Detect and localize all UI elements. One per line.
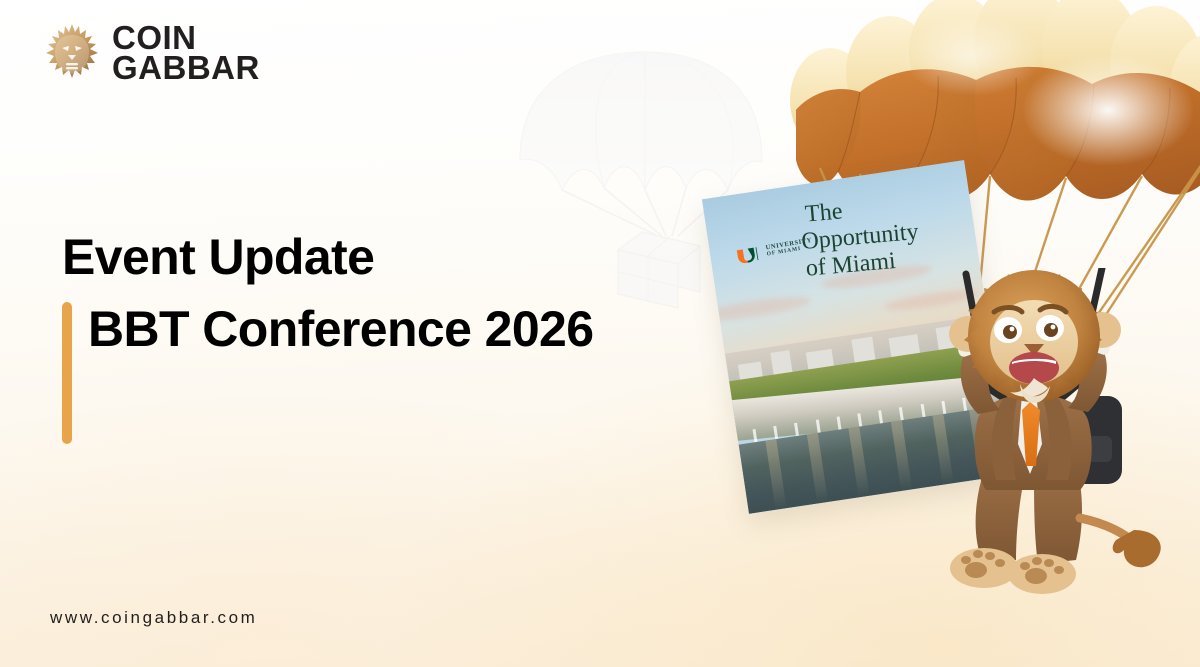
lion-head-icon (44, 22, 100, 84)
brand-name-line2: GABBAR (112, 53, 260, 83)
event-image-card: UNIVERSITY OF MIAMI The Opportunity of M… (702, 160, 1011, 514)
headline-block: Event Update BBT Conference 2026 (62, 232, 662, 360)
brand-logo[interactable]: COIN GABBAR (44, 22, 260, 84)
accent-bar (62, 302, 72, 444)
card-title: The Opportunity of Miami (798, 188, 969, 283)
brand-name: COIN GABBAR (112, 23, 260, 84)
banner-canvas: COIN GABBAR Event Update BBT Conference … (0, 0, 1200, 667)
page-title: BBT Conference 2026 (88, 298, 648, 360)
headline-kicker: Event Update (62, 232, 662, 282)
footer-website-url[interactable]: www.coingabbar.com (50, 608, 257, 628)
headline-title-row: BBT Conference 2026 (62, 298, 662, 360)
